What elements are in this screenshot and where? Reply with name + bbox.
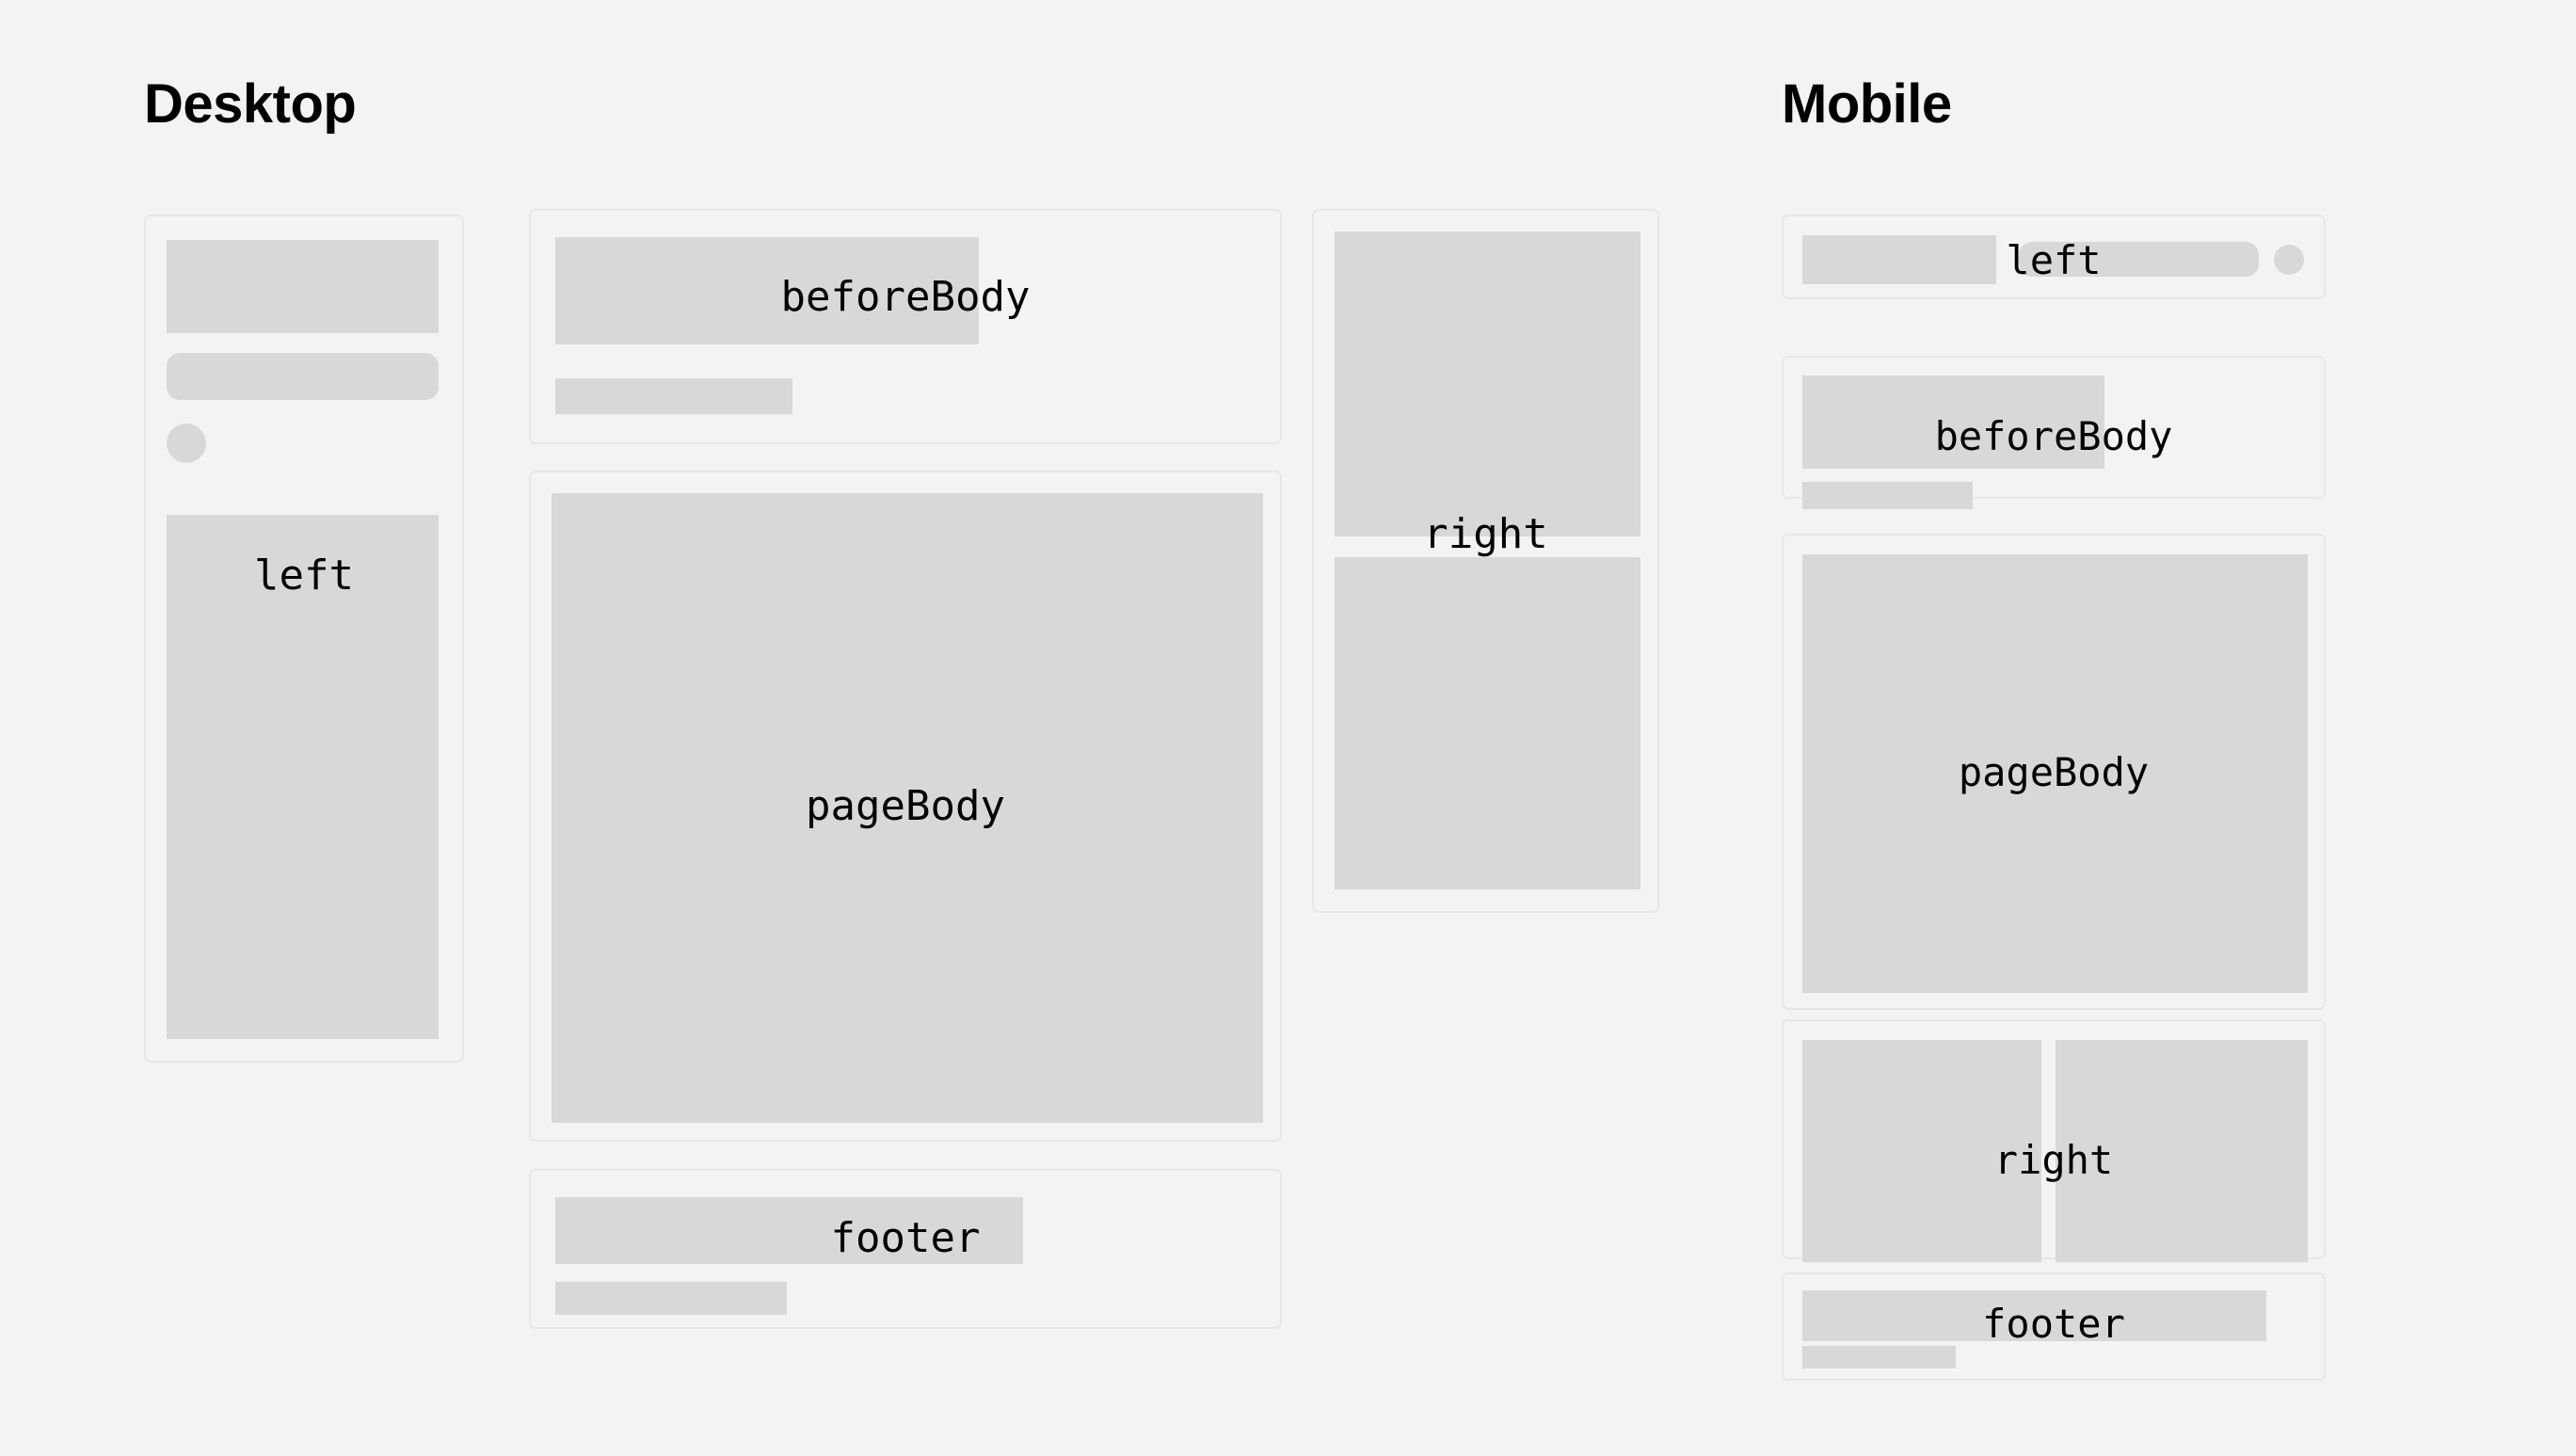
placeholder-block-bottom: [1335, 557, 1640, 889]
placeholder-circle-avatar: [2274, 245, 2304, 275]
mobile-region-pagebody[interactable]: pageBody: [1782, 534, 2326, 1010]
mobile-region-right[interactable]: right: [1782, 1019, 2326, 1259]
placeholder-block-rounded: [167, 353, 439, 400]
placeholder-block-secondary: [555, 1282, 787, 1315]
desktop-region-pagebody[interactable]: pageBody: [529, 471, 1282, 1142]
placeholder-block-secondary: [555, 378, 792, 414]
placeholder-block-primary: [555, 237, 979, 344]
placeholder-block-secondary: [1802, 1346, 1956, 1368]
placeholder-block-primary: [1802, 376, 2104, 469]
placeholder-block-header: [167, 240, 439, 333]
placeholder-block-header: [1802, 235, 1996, 284]
desktop-region-right[interactable]: right: [1312, 209, 1659, 913]
desktop-region-footer[interactable]: footer: [529, 1169, 1282, 1329]
mobile-region-footer[interactable]: footer: [1782, 1272, 2326, 1381]
mobile-region-left[interactable]: left: [1782, 215, 2326, 299]
placeholder-block-right-column: [2056, 1040, 2308, 1262]
placeholder-block-secondary: [1802, 482, 1973, 509]
placeholder-block-rounded: [2019, 242, 2259, 277]
placeholder-block-content: [552, 493, 1263, 1123]
placeholder-block-primary: [1802, 1290, 2266, 1341]
placeholder-block-left-column: [1802, 1040, 2041, 1262]
mobile-region-beforebody[interactable]: beforeBody: [1782, 356, 2326, 499]
placeholder-block-top: [1335, 232, 1640, 536]
desktop-column-heading: Desktop: [144, 77, 356, 132]
mobile-column-heading: Mobile: [1782, 77, 1952, 132]
desktop-region-left[interactable]: left: [144, 215, 464, 1063]
placeholder-circle-avatar: [167, 424, 206, 463]
desktop-region-beforebody[interactable]: beforeBody: [529, 209, 1282, 444]
placeholder-block-content: [1802, 554, 2308, 993]
placeholder-block-primary: [555, 1197, 1023, 1264]
placeholder-block-body: [167, 515, 439, 1039]
